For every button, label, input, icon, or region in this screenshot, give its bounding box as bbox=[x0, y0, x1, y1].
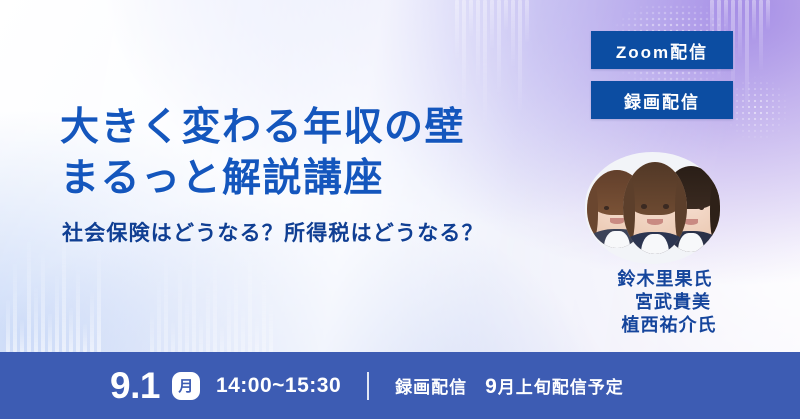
badge-zoom-delivery-label: Zoom配信 bbox=[616, 38, 708, 63]
speaker-photos bbox=[585, 152, 720, 264]
badge-stack: Zoom配信 録画配信 bbox=[591, 31, 733, 131]
speaker-portrait-group bbox=[585, 152, 720, 264]
footer-bar: 9.1 月 14:00~15:30 録画配信 9月上旬配信予定 bbox=[0, 352, 800, 419]
badge-zoom-delivery[interactable]: Zoom配信 bbox=[591, 31, 733, 69]
speaker-name-1: 鈴木里果氏 bbox=[560, 268, 770, 291]
recording-schedule: 9月上旬配信予定 bbox=[485, 373, 624, 399]
weekday-label: 月 bbox=[178, 375, 193, 396]
title-block: 大きく変わる年収の壁 まるっと解説講座 社会保険はどうなる？所得税はどうなる？ bbox=[60, 102, 484, 247]
event-time: 14:00~15:30 bbox=[216, 374, 341, 398]
badge-recorded-delivery[interactable]: 録画配信 bbox=[591, 81, 733, 119]
weekday-chip: 月 bbox=[172, 372, 200, 400]
speaker-name-2: 宮武貴美 bbox=[576, 291, 770, 314]
recording-schedule-text: 月上旬配信予定 bbox=[498, 378, 624, 397]
recording-label: 録画配信 bbox=[395, 373, 467, 398]
title-line-2: まるっと解説講座 bbox=[60, 153, 484, 204]
event-date: 9.1 bbox=[110, 367, 160, 404]
equalizer-bars-bottom-left bbox=[6, 232, 101, 352]
equalizer-bars-bottom-center bbox=[150, 247, 273, 352]
footer-divider bbox=[367, 372, 369, 400]
footer-content: 9.1 月 14:00~15:30 録画配信 9月上旬配信予定 bbox=[110, 367, 624, 404]
badge-recorded-delivery-label: 録画配信 bbox=[624, 88, 700, 113]
speaker-names: 鈴木里果氏 宮武貴美 植西祐介氏 bbox=[560, 268, 770, 337]
recording-schedule-month: 9 bbox=[485, 375, 498, 398]
speaker-name-3: 植西祐介氏 bbox=[568, 314, 770, 337]
webinar-banner: Zoom配信 録画配信 大きく変わる年収の壁 まるっと解説講座 社会保険はどうな… bbox=[0, 0, 800, 419]
title-line-1: 大きく変わる年収の壁 bbox=[60, 102, 484, 153]
speaker-photo-2 bbox=[623, 162, 687, 254]
subtitle: 社会保険はどうなる？所得税はどうなる？ bbox=[62, 217, 484, 247]
